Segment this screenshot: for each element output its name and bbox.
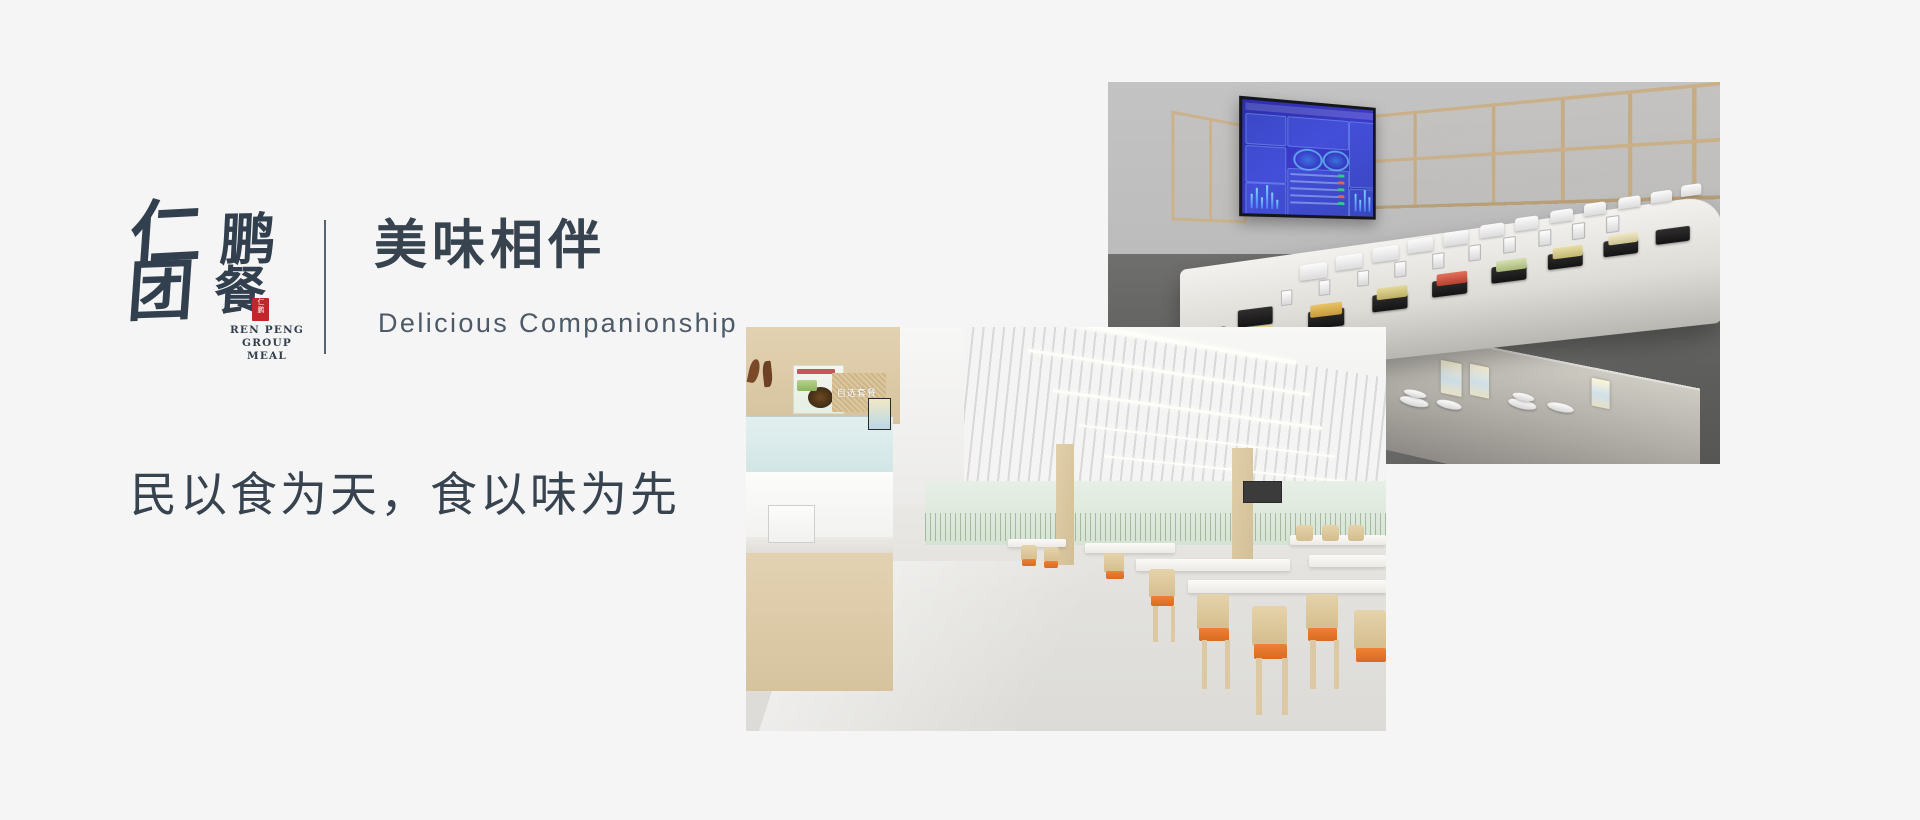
logo-en-line-1: REN PENG	[224, 324, 310, 337]
dining-table	[1309, 555, 1386, 566]
dining-chair-leg	[1256, 658, 1262, 715]
dining-chair-back	[1149, 569, 1175, 597]
dining-chair-seat	[1106, 571, 1124, 579]
render-pergola-left	[1171, 110, 1246, 223]
dining-chair-seat	[1151, 596, 1174, 607]
dining-chair-back	[1354, 610, 1386, 650]
red-seal-stamp: 仁 鹏	[252, 298, 269, 321]
brand-block: 仁 鹏 团 餐 仁 鹏 REN PENG GROUP MEAL 美味相伴 Del…	[128, 196, 748, 366]
canteen-column	[1056, 444, 1074, 565]
dining-chair-seat	[1044, 561, 1058, 567]
dining-chair-seat	[1308, 628, 1337, 641]
dining-chair-seat	[1356, 648, 1386, 662]
dining-chair-seat	[1022, 559, 1036, 565]
brand-logo: 仁 鹏 团 餐 仁 鹏 REN PENG GROUP MEAL	[128, 196, 308, 348]
dining-chair-leg	[1153, 606, 1157, 642]
dining-chair-leg	[1310, 640, 1315, 688]
render-dashboard-monitor	[1239, 96, 1376, 220]
canteen-column	[1232, 448, 1252, 565]
headline-subtitle: Delicious Companionship	[378, 306, 738, 340]
page-canvas: 仁 鹏 团 餐 仁 鹏 REN PENG GROUP MEAL 美味相伴 Del…	[0, 0, 1920, 820]
dining-chair-seat	[1254, 644, 1287, 659]
dining-chair-back	[1197, 594, 1229, 630]
dining-chair-leg	[1334, 640, 1339, 688]
logo-char-peng: 鹏	[219, 212, 278, 269]
dining-chair-leg	[1202, 640, 1207, 688]
vertical-divider	[324, 220, 326, 354]
canteen-wall-tv	[1243, 481, 1282, 503]
photo-canteen-interior: 自选套餐	[746, 327, 1386, 731]
logo-en-line-2: GROUP	[224, 337, 310, 350]
dining-chair-leg	[1282, 658, 1288, 715]
seal-line-1: 仁	[252, 298, 269, 306]
dining-chair-back	[1296, 525, 1313, 541]
dining-table	[1188, 580, 1386, 594]
logo-en-line-3: MEAL	[224, 350, 310, 363]
dining-chair-back	[1252, 606, 1288, 646]
tagline: 民以食为天，食以味为先	[130, 466, 680, 526]
dining-chair-back	[1306, 594, 1338, 630]
logo-char-tuan: 团	[126, 257, 197, 325]
dining-table	[1085, 543, 1175, 553]
dining-table	[1008, 539, 1066, 547]
canteen-wall-hatch	[768, 505, 815, 543]
dining-chair-back	[1104, 553, 1123, 573]
dining-chair-seat	[1199, 628, 1228, 641]
headline-title: 美味相伴	[374, 216, 606, 276]
logo-calligraphy: 仁 鹏 团 餐	[128, 196, 308, 324]
logo-english-name: REN PENG GROUP MEAL	[224, 324, 310, 363]
canteen-sign-text: 自选套餐	[837, 386, 877, 399]
dining-chair-leg	[1171, 606, 1175, 642]
canteen-menu-screen	[868, 398, 892, 430]
dining-chair-leg	[1225, 640, 1230, 688]
render-dashboard-screen	[1242, 99, 1373, 217]
dining-chair-back	[1348, 525, 1365, 541]
canteen-counter-cabinets	[746, 553, 893, 690]
seal-line-2: 鹏	[252, 306, 269, 314]
dining-chair-back	[1322, 525, 1339, 541]
